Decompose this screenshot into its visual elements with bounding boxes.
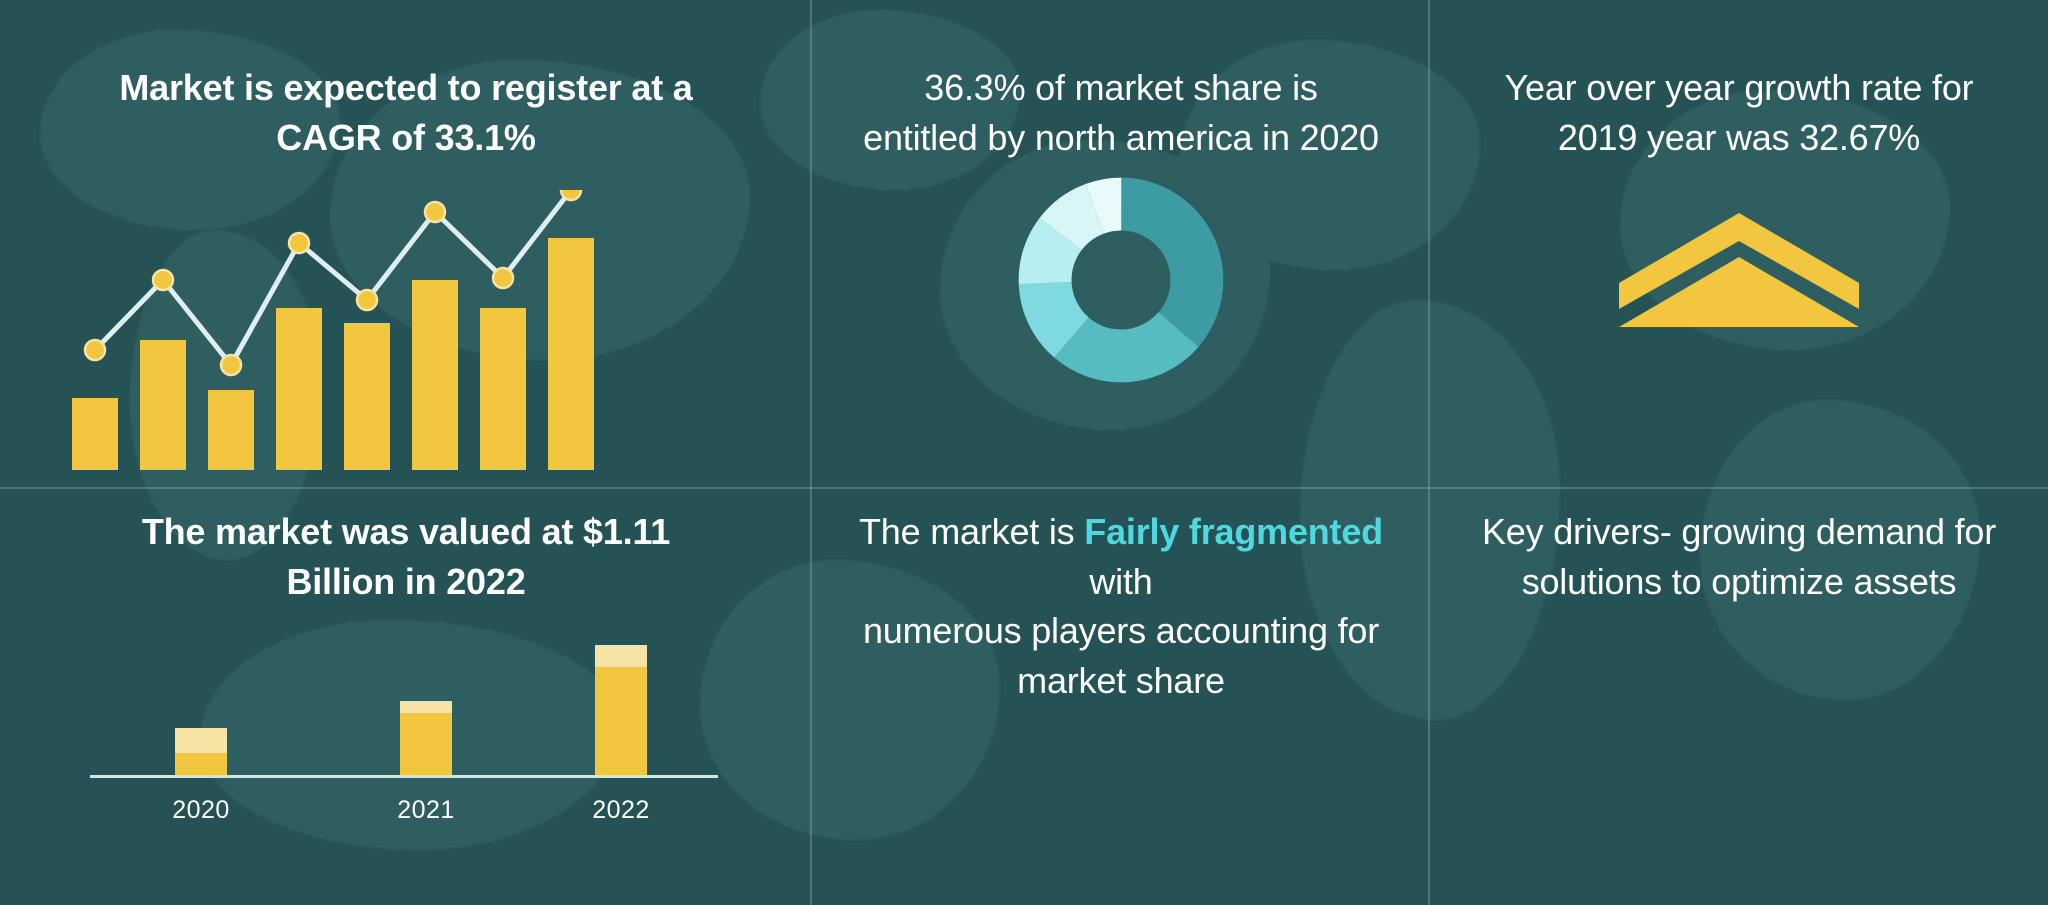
panel-market-share-headline-line1: 36.3% of market share is xyxy=(852,63,1390,113)
bar-2022-cap xyxy=(595,645,647,667)
panel-market-value-headline: The market was valued at $1.11 Billion i… xyxy=(100,507,712,606)
bar-column-2020 xyxy=(175,728,227,775)
fragmentation-highlight: Fairly fragmented xyxy=(1084,511,1383,552)
panel-key-drivers: Key drivers- growing demand for solution… xyxy=(1430,487,2048,905)
panel-yoy-growth-headline: Year over year growth rate for 2019 year… xyxy=(1470,63,2008,162)
panel-yoy-growth-headline-line1: Year over year growth rate for xyxy=(1470,63,2008,113)
fragmentation-text-before: The market is xyxy=(859,511,1084,552)
bar-2021-base xyxy=(400,713,452,775)
double-chevron-up-icon-svg xyxy=(1604,205,1874,335)
panel-key-drivers-headline: Key drivers- growing demand for solution… xyxy=(1470,507,2008,606)
panel-market-value: The market was valued at $1.11 Billion i… xyxy=(0,487,812,905)
bar-column-2022 xyxy=(595,645,647,775)
panel-cagr-headline-line2: CAGR of 33.1% xyxy=(90,113,722,163)
panel-cagr-headline: Market is expected to register at a CAGR… xyxy=(90,63,722,162)
north-america-share-donut xyxy=(812,165,1430,395)
fragmentation-text-after: with xyxy=(1089,561,1152,602)
bar-2020-cap xyxy=(175,728,227,753)
bar-2020-base xyxy=(175,753,227,775)
bar-column-2021 xyxy=(400,701,452,775)
divider-horizontal-3 xyxy=(1430,487,2048,489)
panel-market-share: 36.3% of market share is entitled by nor… xyxy=(812,0,1430,487)
cagr-combo-chart-svg xyxy=(60,190,710,470)
panel-key-drivers-headline-line2: solutions to optimize assets xyxy=(1470,557,2008,607)
divider-horizontal-2 xyxy=(812,487,1430,489)
panel-market-value-headline-line1: The market was valued at $1.11 xyxy=(100,507,712,557)
panel-market-share-headline-line2: entitled by north america in 2020 xyxy=(852,113,1390,163)
donut-chart-svg xyxy=(1006,165,1236,395)
panel-market-share-headline: 36.3% of market share is entitled by nor… xyxy=(852,63,1390,162)
bar-label-2022: 2022 xyxy=(561,796,681,825)
bar-2021-cap xyxy=(400,701,452,713)
panel-yoy-growth: Year over year growth rate for 2019 year… xyxy=(1430,0,2048,487)
panel-yoy-growth-headline-line2: 2019 year was 32.67% xyxy=(1470,113,2008,163)
panel-key-drivers-headline-line1: Key drivers- growing demand for xyxy=(1470,507,2008,557)
market-value-bars: 2020 2021 2022 xyxy=(70,595,730,835)
panel-fragmentation: The market is Fairly fragmented with num… xyxy=(812,487,1430,905)
market-value-axis-line xyxy=(90,775,718,778)
divider-horizontal-1 xyxy=(0,487,812,489)
bar-2022-base xyxy=(595,667,647,775)
panel-cagr-headline-line1: Market is expected to register at a xyxy=(90,63,722,113)
bar-label-2021: 2021 xyxy=(366,796,486,825)
panel-fragmentation-headline: The market is Fairly fragmented with num… xyxy=(832,507,1410,706)
double-chevron-up-icon xyxy=(1430,205,2048,335)
panel-fragmentation-headline-line2: numerous players accounting for market s… xyxy=(832,606,1410,705)
bar-label-2020: 2020 xyxy=(141,796,261,825)
infographic-grid: Market is expected to register at a CAGR… xyxy=(0,0,2048,905)
panel-fragmentation-headline-line1: The market is Fairly fragmented with xyxy=(832,507,1410,606)
panel-cagr: Market is expected to register at a CAGR… xyxy=(0,0,812,487)
cagr-combo-chart xyxy=(60,190,710,470)
